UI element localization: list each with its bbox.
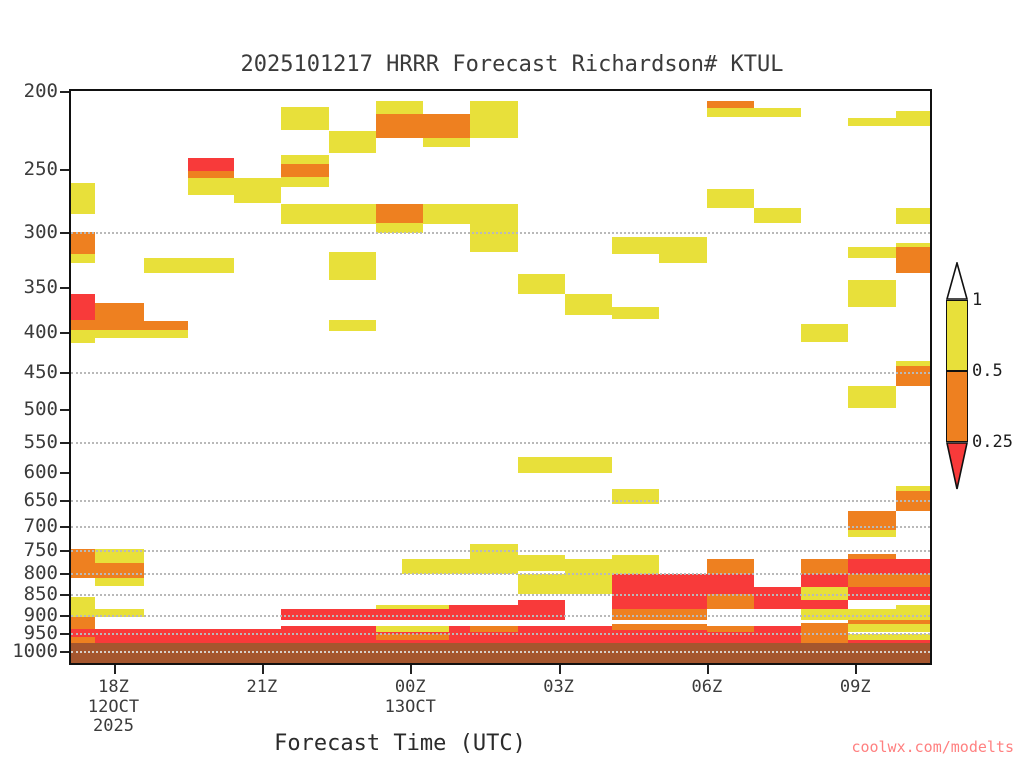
- x-tick-label-hour: 03Z: [499, 678, 619, 698]
- colorbar[interactable]: 1 0.5 0.25: [946, 300, 968, 442]
- y-tick-mark: [60, 472, 69, 474]
- x-tick-label-date: 12OCT: [54, 698, 174, 718]
- y-tick-mark: [60, 372, 69, 374]
- x-tick-label-hour: 18Z: [54, 678, 174, 698]
- x-tick-label: 03Z: [499, 678, 619, 698]
- colorbar-segment-yellow: [946, 300, 968, 371]
- gridline: [71, 372, 930, 374]
- y-tick-label: 450: [0, 363, 58, 382]
- gridline: [71, 526, 930, 528]
- y-tick-mark: [60, 651, 69, 653]
- x-tick-label-hour: 00Z: [350, 678, 470, 698]
- colorbar-tick-025: 0.25: [972, 434, 1013, 451]
- colorbar-under-arrow-outline: [946, 442, 968, 490]
- y-tick-mark: [60, 550, 69, 552]
- terrain-band: [71, 643, 930, 663]
- y-tick-label: 400: [0, 323, 58, 342]
- page-title: 2025101217 HRRR Forecast Richardson# KTU…: [0, 52, 1024, 77]
- gridlines: [71, 91, 930, 663]
- y-tick-mark: [60, 169, 69, 171]
- x-tick-label: 00Z13OCT: [350, 678, 470, 717]
- x-tick-label-hour: 06Z: [647, 678, 767, 698]
- x-tick-label: 09Z: [795, 678, 915, 698]
- y-tick-label: 200: [0, 82, 58, 101]
- y-tick-mark: [60, 633, 69, 635]
- x-tick-label-date: 13OCT: [350, 698, 470, 718]
- y-tick-mark: [60, 232, 69, 234]
- y-tick-mark: [60, 615, 69, 617]
- y-tick-label: 850: [0, 585, 58, 604]
- colorbar-tick-05: 0.5: [972, 363, 1003, 380]
- gridline: [71, 594, 930, 596]
- y-tick-mark: [60, 442, 69, 444]
- x-tick-label: 18Z12OCT2025: [54, 678, 174, 737]
- x-tick-mark: [559, 665, 561, 674]
- gridline: [71, 615, 930, 617]
- gridline: [71, 500, 930, 502]
- y-tick-mark: [60, 287, 69, 289]
- x-tick-mark: [855, 665, 857, 674]
- y-tick-label: 250: [0, 160, 58, 179]
- gridline-1000: [71, 651, 930, 653]
- y-tick-label: 300: [0, 223, 58, 242]
- y-tick-mark: [60, 526, 69, 528]
- y-tick-label: 750: [0, 541, 58, 560]
- x-tick-label: 21Z: [202, 678, 322, 698]
- gridline: [71, 232, 930, 234]
- gridline: [71, 442, 930, 444]
- colorbar-segment-orange: [946, 371, 968, 442]
- gridline: [71, 633, 930, 635]
- x-tick-label-hour: 09Z: [795, 678, 915, 698]
- y-tick-label: 700: [0, 517, 58, 536]
- y-tick-label: 550: [0, 433, 58, 452]
- x-axis-title: Forecast Time (UTC): [0, 731, 800, 756]
- gridline: [71, 550, 930, 552]
- colorbar-tick-1: 1: [972, 292, 982, 309]
- y-tick-label: 650: [0, 491, 58, 510]
- x-tick-mark: [114, 665, 116, 674]
- y-tick-label: 600: [0, 463, 58, 482]
- x-tick-label-hour: 21Z: [202, 678, 322, 698]
- y-tick-mark: [60, 500, 69, 502]
- colorbar-over-arrow-outline: [946, 262, 968, 300]
- x-tick-mark: [707, 665, 709, 674]
- y-tick-label: 500: [0, 400, 58, 419]
- chart-plot-area: [69, 89, 932, 665]
- y-tick-mark: [60, 91, 69, 93]
- y-tick-mark: [60, 573, 69, 575]
- x-tick-label: 06Z: [647, 678, 767, 698]
- y-tick-label: 800: [0, 564, 58, 583]
- y-tick-mark: [60, 409, 69, 411]
- gridline: [71, 573, 930, 575]
- credit-link[interactable]: coolwx.com/modelts: [851, 738, 1014, 756]
- x-tick-mark: [410, 665, 412, 674]
- y-tick-mark: [60, 332, 69, 334]
- y-tick-mark: [60, 594, 69, 596]
- y-tick-label: 1000: [0, 642, 58, 661]
- y-tick-label: 350: [0, 278, 58, 297]
- x-tick-mark: [262, 665, 264, 674]
